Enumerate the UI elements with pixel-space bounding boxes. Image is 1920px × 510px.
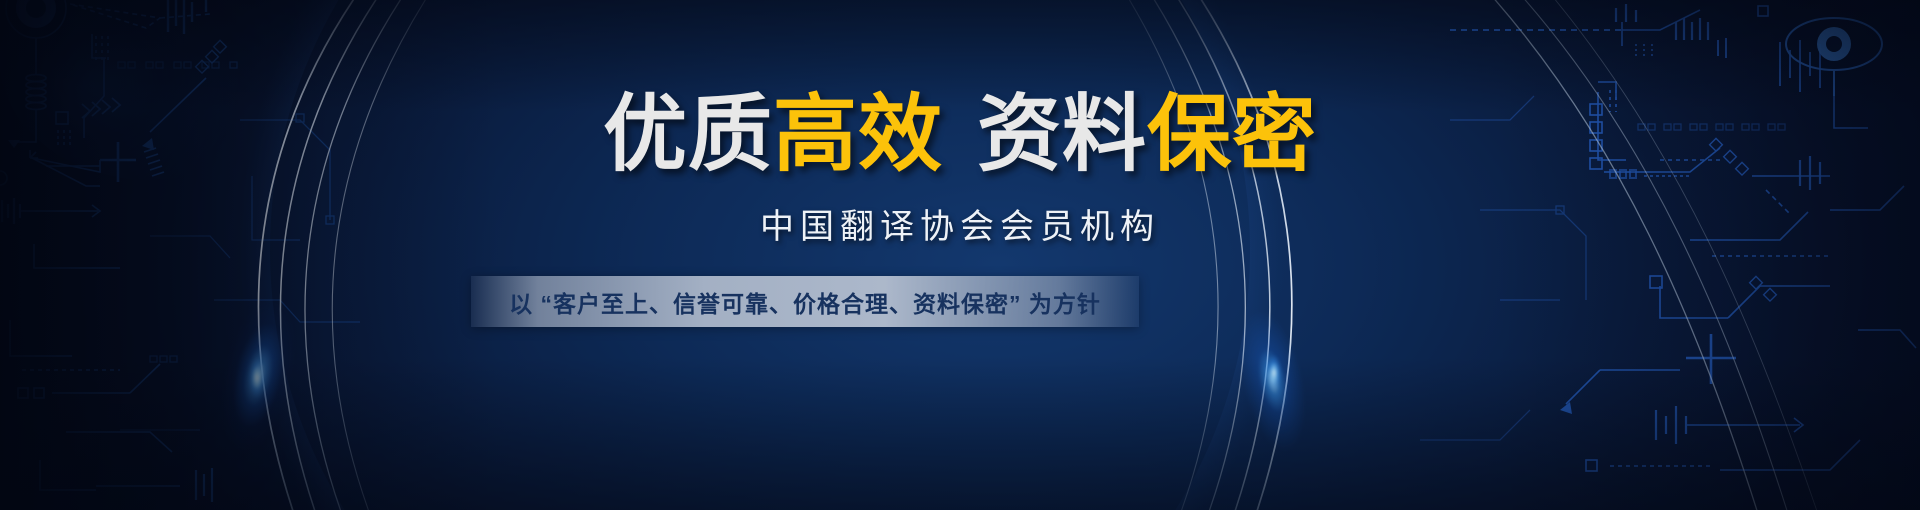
tagline-bar: 以 “客户至上、信誉可靠、价格合理、资料保密” 为方针	[471, 276, 1139, 327]
left-circuit-decoration	[0, 0, 430, 510]
left-arc-glow-core	[246, 355, 268, 401]
right-circuit-decoration	[1360, 0, 1920, 510]
decorative-arcs	[0, 0, 1920, 510]
headline-segment-4: 保密	[1147, 87, 1317, 181]
tagline-text: 以 “客户至上、信誉可靠、价格合理、资料保密” 为方针	[509, 285, 1101, 319]
hero-banner: 优质高效资料保密 中国翻译协会会员机构 以 “客户至上、信誉可靠、价格合理、资料…	[0, 0, 1920, 510]
right-arc-glow-core	[1264, 352, 1284, 394]
subtitle: 中国翻译协会会员机构	[0, 205, 1920, 251]
top-bottom-vignette	[0, 0, 1920, 510]
headline: 优质高效资料保密	[0, 92, 1920, 176]
right-arc-glow	[1198, 279, 1353, 480]
background-gradient	[0, 0, 1920, 510]
headline-segment-3: 资料	[977, 87, 1147, 181]
headline-segment-1: 优质	[603, 87, 773, 181]
right-vignette	[0, 0, 1920, 510]
left-arc-glow	[178, 270, 335, 481]
left-vignette	[0, 0, 1920, 510]
headline-segment-2: 高效	[773, 87, 943, 181]
